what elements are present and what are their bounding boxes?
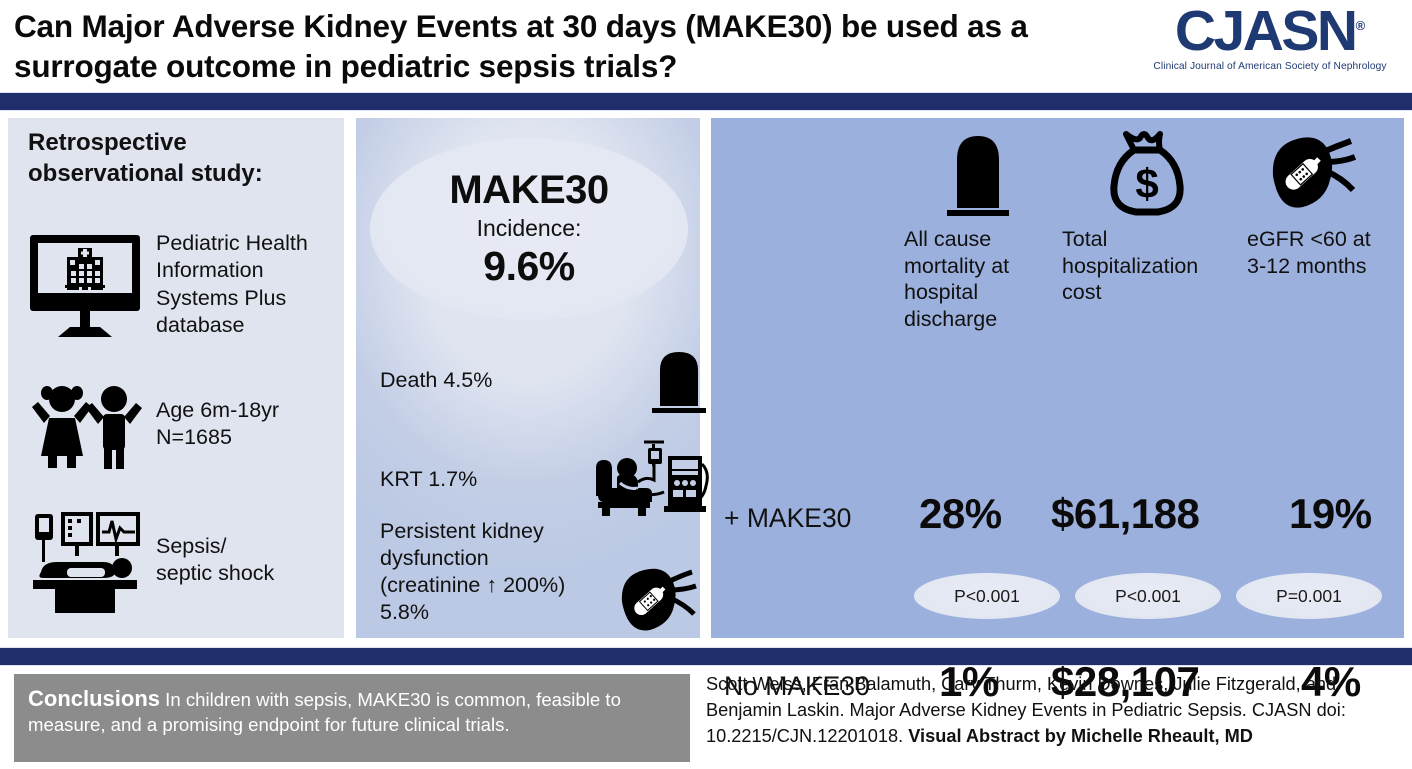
outcome-column-cost-label: Total hospitalization cost [1062,226,1232,306]
component-pkd-line2: dysfunction [380,545,565,572]
methods-item-age: Age 6m-18yr N=1685 [22,378,279,470]
methods-item-database: Pediatric Health Information Systems Plu… [22,230,344,339]
p-value-egfr: P=0.001 [1236,573,1382,619]
value-positive-egfr: 19% [1289,490,1372,538]
component-krt: KRT 1.7% [380,438,710,522]
make30-definition-panel: MAKE30 Incidence: 9.6% Death 4.5% KRT 1.… [356,118,700,638]
two-children-icon [22,378,148,470]
kidney-bandage-icon [614,562,710,640]
svg-text:$: $ [1135,160,1158,207]
component-pkd-line4: 5.8% [380,599,565,626]
dialysis-chair-icon [586,438,710,522]
outcome-column-cost: $ Total hospitalization cost [1062,128,1232,348]
logo-wordmark-text: CJASN [1175,0,1356,63]
logo-wordmark: CJASN® [1142,2,1398,60]
make30-title: MAKE30 [449,168,608,213]
logo-subtitle: Clinical Journal of American Society of … [1142,61,1398,72]
cjasn-logo: CJASN® Clinical Journal of American Soci… [1142,2,1398,72]
citation-credit: Visual Abstract by Michelle Rheault, MD [908,726,1253,746]
component-krt-label: KRT 1.7% [380,466,477,493]
methods-item-database-label: Pediatric Health Information Systems Plu… [148,230,344,339]
outcomes-panel: All cause mortality at hospital discharg… [711,118,1404,638]
methods-item-sepsis-label: Sepsis/ septic shock [148,533,274,588]
conclusions-label: Conclusions [28,686,160,711]
outcome-column-mortality: All cause mortality at hospital discharg… [904,128,1052,348]
money-bag-icon: $ [1104,128,1190,220]
patient-bed-monitor-icon [22,506,148,614]
methods-heading: Retrospective observational study: [28,128,298,189]
value-positive-mortality: 28% [919,490,1002,538]
divider-bar-top [0,92,1412,111]
kidney-bandage-icon [1263,128,1371,220]
methods-panel: Retrospective observational study: [8,118,344,638]
methods-sepsis-line2: septic shock [156,560,274,587]
component-death-label: Death 4.5% [380,367,492,394]
p-value-cost: P<0.001 [1075,573,1221,619]
conclusions-box: Conclusions In children with sepsis, MAK… [14,674,690,762]
outcomes-grid: All cause mortality at hospital discharg… [711,118,1404,638]
computer-hospital-database-icon [22,231,148,339]
value-positive-cost: $61,188 [1051,490,1199,538]
divider-bar-bottom [0,647,1412,666]
make30-incidence-value: 9.6% [483,243,574,290]
visual-abstract-page: Can Major Adverse Kidney Events at 30 da… [0,0,1412,769]
methods-item-sepsis: Sepsis/ septic shock [22,506,274,614]
component-pkd-label: Persistent kidney dysfunction (creatinin… [380,518,565,626]
component-pkd-line1: Persistent kidney [380,518,565,545]
registered-trademark-icon: ® [1356,18,1366,33]
page-title: Can Major Adverse Kidney Events at 30 da… [14,6,1124,87]
outcome-column-mortality-label: All cause mortality at hospital discharg… [904,226,1052,333]
component-persistent-kidney-dysfunction: Persistent kidney dysfunction (creatinin… [380,518,710,640]
make30-incidence-badge: MAKE30 Incidence: 9.6% [370,138,688,320]
tombstone-icon [648,348,710,414]
tombstone-icon [941,128,1015,220]
outcome-column-egfr-label: eGFR <60 at 3-12 months [1247,226,1387,279]
methods-item-age-label: Age 6m-18yr N=1685 [148,397,279,452]
methods-sepsis-line1: Sepsis/ [156,533,274,560]
methods-age-line: Age 6m-18yr [156,397,279,424]
row-label-make30-positive: + MAKE30 [724,503,851,534]
citation-block: Scott Weiss, Fran Balamuth, Cary Thurm, … [706,672,1402,750]
component-pkd-line3: (creatinine ↑ 200%) [380,572,565,599]
methods-db-line: Pediatric Health Information Systems Plu… [156,231,308,337]
p-value-mortality: P<0.001 [914,573,1060,619]
methods-n-line: N=1685 [156,424,279,451]
component-death: Death 4.5% [380,348,710,414]
header: Can Major Adverse Kidney Events at 30 da… [0,0,1412,92]
make30-incidence-label: Incidence: [477,215,582,242]
outcome-column-egfr: eGFR <60 at 3-12 months [1247,128,1387,348]
